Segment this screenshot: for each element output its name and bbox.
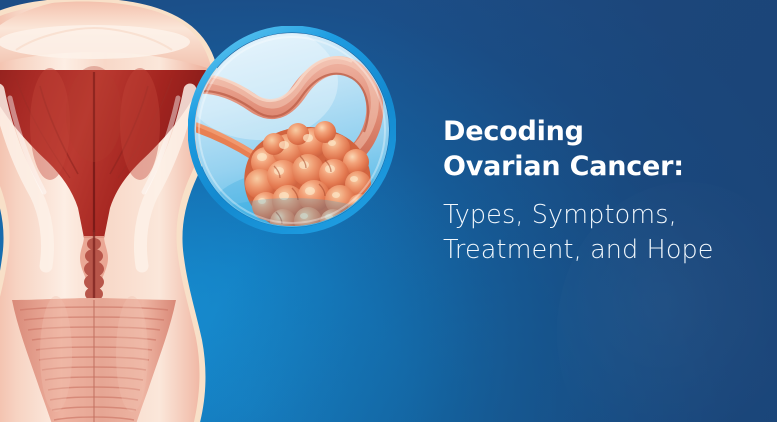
headline-spacer bbox=[443, 184, 763, 198]
subheadline-line-2: Treatment, and Hope bbox=[443, 233, 763, 268]
ovarian-cancer-banner: Decoding Ovarian Cancer: Types, Symptoms… bbox=[0, 0, 777, 422]
subheadline-line-1: Types, Symptoms, bbox=[443, 198, 763, 233]
magnifier-circle bbox=[188, 26, 396, 234]
headline-block: Decoding Ovarian Cancer: Types, Symptoms… bbox=[443, 114, 763, 268]
headline-line-2: Ovarian Cancer: bbox=[443, 149, 763, 184]
headline-line-1: Decoding bbox=[443, 114, 763, 149]
